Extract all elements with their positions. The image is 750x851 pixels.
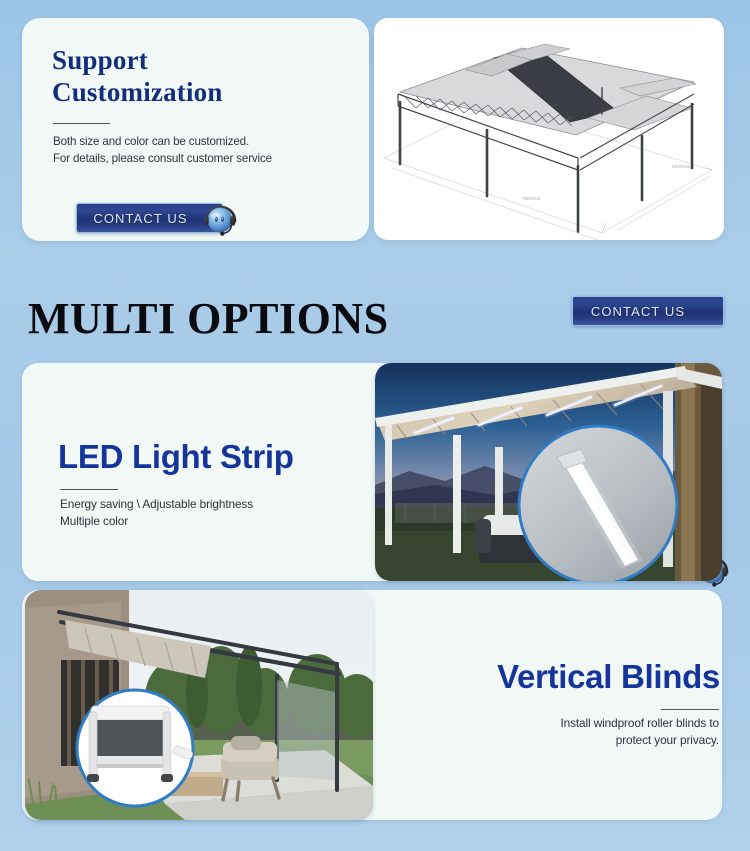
support-customization-section: Support Customization Both size and colo… xyxy=(0,0,750,258)
support-product-drawing-card: 7500mm 5000mm xyxy=(374,18,724,240)
led-feature-description: Energy saving \ Adjustable brightness Mu… xyxy=(60,496,360,530)
pergola-led-night-photo xyxy=(375,363,722,581)
support-title: Support Customization xyxy=(52,44,342,108)
contact-us-label: CONTACT US xyxy=(93,211,205,226)
pergola-garden-blinds-photo xyxy=(25,590,373,820)
contact-us-label: CONTACT US xyxy=(591,304,705,319)
page-title: MULTI OPTIONS xyxy=(28,293,389,344)
contact-us-button-support[interactable]: CONTACT US xyxy=(76,203,223,233)
led-feature-title: LED Light Strip xyxy=(58,438,294,476)
pergola-3d-technical-drawing xyxy=(374,18,724,240)
led-title-divider xyxy=(60,489,118,490)
dimension-length-label: 7500mm xyxy=(522,196,540,201)
support-description-line1: Both size and color can be customized. xyxy=(53,133,353,150)
support-description-line2: For details, please consult customer ser… xyxy=(53,150,353,167)
led-description-line1: Energy saving \ Adjustable brightness xyxy=(60,496,360,513)
blinds-title-divider xyxy=(661,709,719,710)
blinds-feature-title: Vertical Blinds xyxy=(497,658,720,696)
contact-us-button-multi[interactable]: CONTACT US xyxy=(572,296,724,326)
led-description-line2: Multiple color xyxy=(60,513,360,530)
support-description: Both size and color can be customized. F… xyxy=(53,133,353,167)
support-title-line2: Customization xyxy=(52,76,342,108)
support-text-card: Support Customization Both size and colo… xyxy=(22,18,369,241)
dimension-width-label: 5000mm xyxy=(672,164,690,169)
support-title-line1: Support xyxy=(52,44,342,76)
blinds-feature-description: Install windproof roller blinds to prote… xyxy=(419,715,719,749)
blinds-description-line1: Install windproof roller blinds to xyxy=(419,715,719,732)
multi-options-section: MULTI OPTIONS CONTACT US xyxy=(0,258,750,851)
support-title-divider xyxy=(53,123,110,124)
blinds-description-line2: protect your privacy. xyxy=(419,732,719,749)
